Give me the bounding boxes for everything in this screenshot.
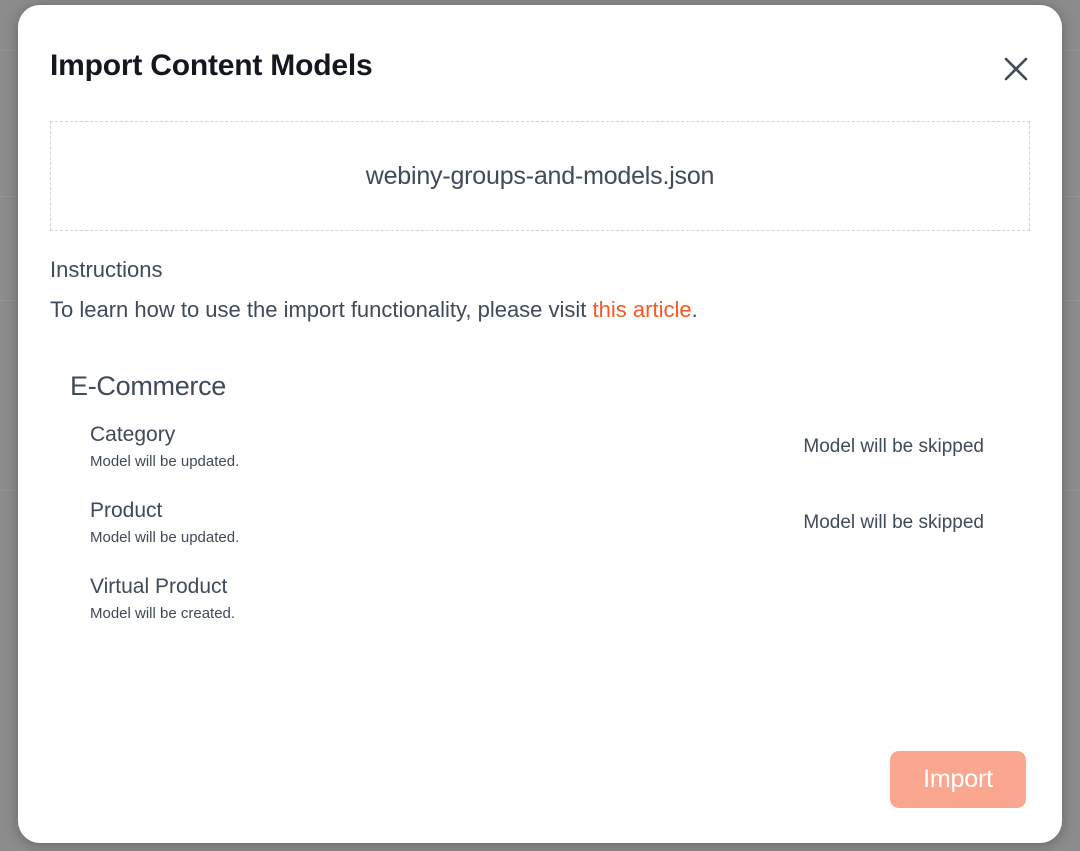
model-status: Model will be created. — [90, 606, 1030, 621]
instructions-text-after: . — [692, 297, 698, 322]
dropzone-filename: webiny-groups-and-models.json — [366, 162, 715, 191]
list-item[interactable]: Category Model will be updated. Model wi… — [90, 424, 1030, 474]
this-article-link[interactable]: this article — [593, 297, 692, 322]
instructions-text: To learn how to use the import functiona… — [50, 299, 1030, 321]
page-title: Import Content Models — [50, 49, 372, 83]
import-button[interactable]: Import — [890, 751, 1026, 808]
model-group-title: E-Commerce — [70, 371, 1030, 402]
dialog-footer: Import — [18, 729, 1062, 843]
model-note: Model will be skipped — [803, 512, 984, 534]
list-item[interactable]: Product Model will be updated. Model wil… — [90, 500, 1030, 550]
import-content-models-dialog: Import Content Models webiny-groups-and-… — [18, 5, 1062, 843]
model-name: Virtual Product — [90, 576, 1030, 597]
model-note: Model will be skipped — [803, 436, 984, 458]
dialog-header: Import Content Models — [18, 5, 1062, 121]
close-button[interactable] — [994, 47, 1038, 91]
list-item[interactable]: Virtual Product Model will be created. — [90, 576, 1030, 626]
close-icon — [1001, 54, 1031, 84]
model-list: Category Model will be updated. Model wi… — [50, 424, 1030, 626]
instructions-label: Instructions — [50, 259, 1030, 281]
dialog-body: webiny-groups-and-models.json Instructio… — [18, 121, 1062, 729]
model-group: E-Commerce Category Model will be update… — [50, 371, 1030, 626]
file-dropzone[interactable]: webiny-groups-and-models.json — [50, 121, 1030, 231]
instructions-text-before: To learn how to use the import functiona… — [50, 297, 593, 322]
